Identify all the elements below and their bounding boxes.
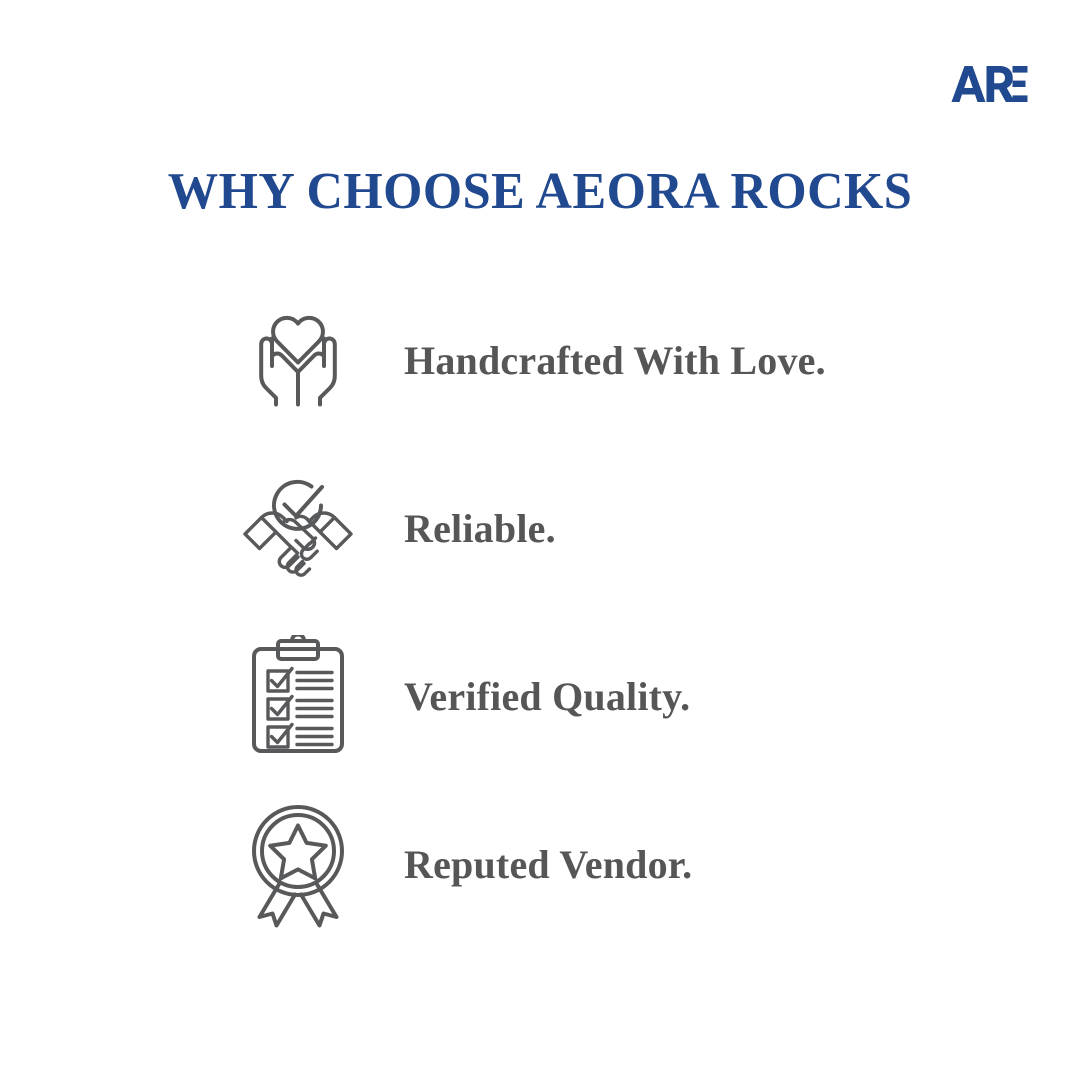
poster-canvas: WHY CHOOSE AEORA ROCKS: [0, 0, 1080, 1080]
feature-label-verified: Verified Quality.: [404, 673, 690, 720]
hands-holding-heart-icon: [236, 290, 360, 430]
feature-row-reputed: Reputed Vendor.: [236, 780, 936, 948]
feature-label-reputed: Reputed Vendor.: [404, 841, 692, 888]
page-title: WHY CHOOSE AEORA ROCKS: [16, 162, 1064, 221]
clipboard-checklist-icon: [236, 626, 360, 766]
handshake-check-icon: [236, 458, 360, 598]
feature-row-handcrafted: Handcrafted With Love.: [236, 276, 936, 444]
feature-label-handcrafted: Handcrafted With Love.: [404, 337, 826, 384]
are-logo: [950, 62, 1028, 106]
feature-list: Handcrafted With Love.: [236, 276, 936, 948]
feature-row-reliable: Reliable.: [236, 444, 936, 612]
feature-label-reliable: Reliable.: [404, 505, 556, 552]
award-rosette-star-icon: [236, 794, 360, 934]
feature-row-verified: Verified Quality.: [236, 612, 936, 780]
